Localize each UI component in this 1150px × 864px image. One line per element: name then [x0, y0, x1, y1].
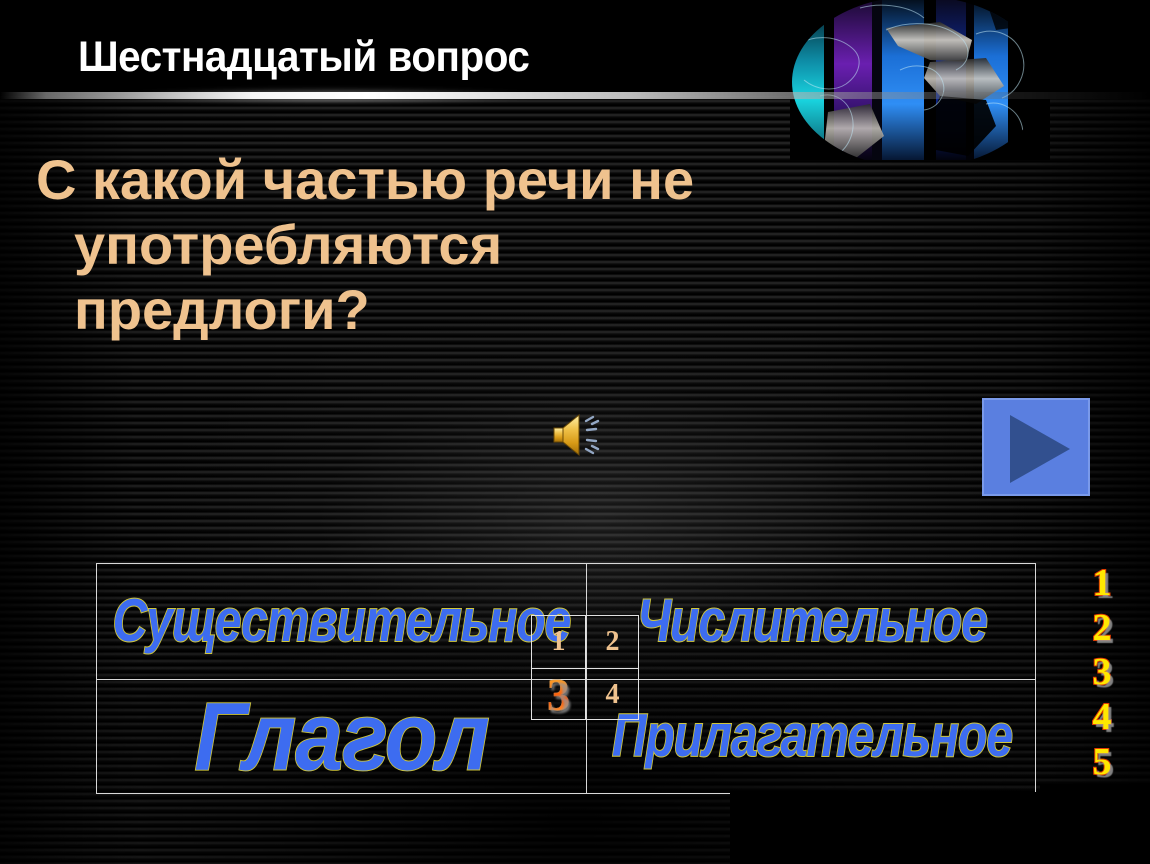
answer-option-verb[interactable]: Глагол	[97, 680, 586, 794]
page-title: Шестнадцатый вопрос	[78, 33, 529, 82]
answer-label-numeral: Числительное	[637, 592, 987, 652]
question-line-1: С какой частью речи не	[36, 148, 966, 213]
question-text: С какой частью речи не употребляются пре…	[36, 148, 966, 343]
strip-number-1[interactable]: 1	[1093, 565, 1112, 601]
number-grid-cell-3-value: 3	[547, 668, 570, 721]
title-divider	[0, 92, 1150, 99]
header-right-mask	[1048, 0, 1150, 98]
answer-option-noun[interactable]: Существительное	[97, 564, 586, 679]
question-number-strip: 1 2 3 4 5	[1075, 565, 1129, 780]
number-grid-cell-4[interactable]: 4	[586, 669, 639, 720]
number-grid: 1 2 3 4	[531, 615, 639, 720]
speaker-icon[interactable]	[549, 409, 611, 461]
answer-label-noun: Существительное	[113, 592, 571, 652]
number-grid-cell-1[interactable]: 1	[532, 616, 585, 668]
play-button[interactable]	[982, 398, 1090, 496]
answer-label-adjective: Прилагательное	[612, 707, 1012, 767]
question-line-2: употребляются	[36, 213, 966, 278]
answer-label-verb: Глагол	[194, 689, 489, 785]
world-map-icon	[790, 0, 1050, 160]
presentation-slide: Шестнадцатый вопрос С какой частью речи …	[0, 0, 1150, 864]
answer-option-adjective[interactable]: Прилагательное	[587, 680, 1037, 794]
number-grid-cell-2[interactable]: 2	[586, 616, 639, 668]
right-edge-mask	[1040, 784, 1150, 864]
strip-number-4[interactable]: 4	[1093, 699, 1112, 735]
play-icon	[1010, 415, 1070, 483]
strip-number-5[interactable]: 5	[1093, 744, 1112, 780]
strip-number-2[interactable]: 2	[1093, 610, 1112, 646]
strip-number-3[interactable]: 3	[1093, 654, 1112, 690]
question-line-3: предлоги?	[36, 278, 966, 343]
number-grid-cell-3-highlighted[interactable]: 3	[532, 669, 585, 720]
answer-option-numeral[interactable]: Числительное	[587, 564, 1037, 679]
